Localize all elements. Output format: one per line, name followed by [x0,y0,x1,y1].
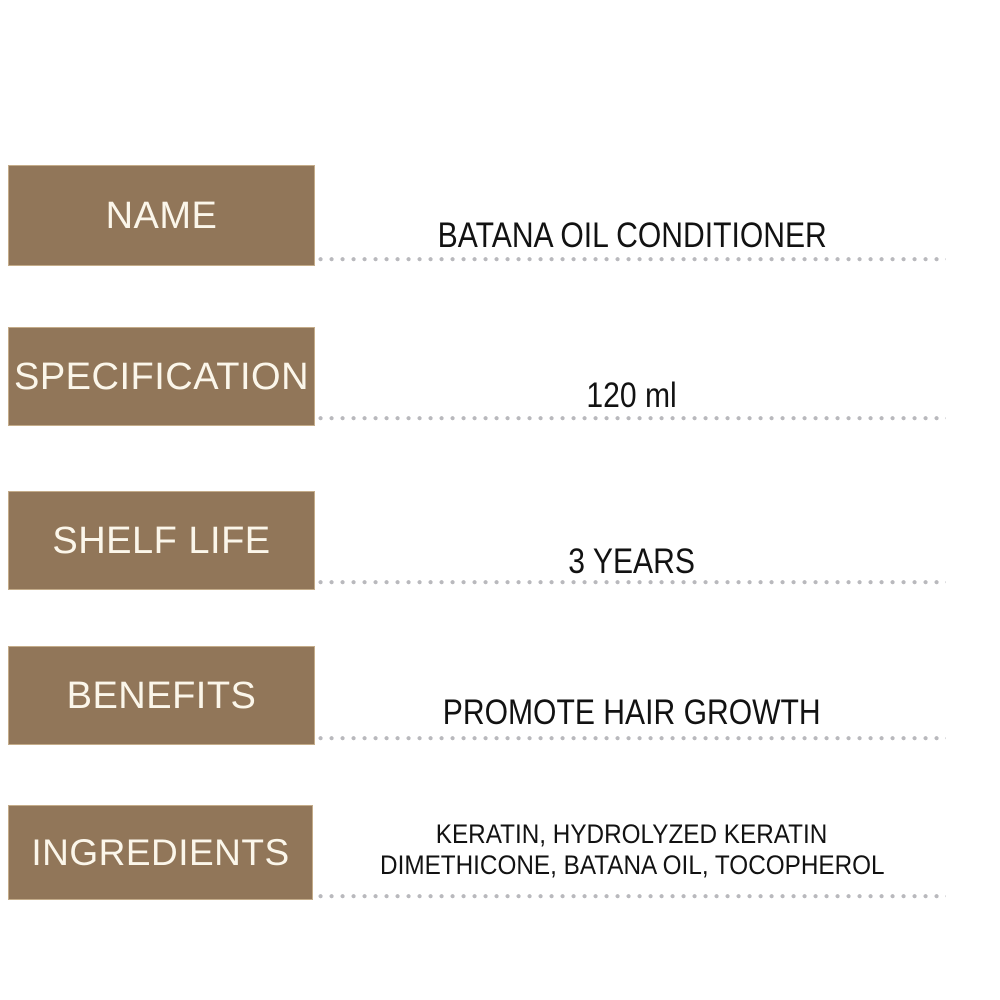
label-text-name: NAME [106,197,218,235]
label-chip-shelf-life: SHELF LIFE [8,491,315,590]
label-text-benefits: BENEFITS [67,677,257,715]
value-text-name-line-1: BATANA OIL CONDITIONER [437,216,826,256]
value-text-shelf-life-line-1: 3 YEARS [569,542,696,582]
value-text-ingredients-line-1: KERATIN, HYDROLYZED KERATIN [436,819,828,850]
value-block-ingredients: KERATIN, HYDROLYZED KERATIN DIMETHICONE,… [318,808,946,892]
label-text-shelf-life: SHELF LIFE [52,522,270,560]
label-text-specification: SPECIFICATION [14,358,309,396]
value-text-benefits-line-1: PROMOTE HAIR GROWTH [443,693,821,733]
value-block-benefits: PROMOTE HAIR GROWTH [318,663,946,733]
value-text-ingredients-line-2: DIMETHICONE, BATANA OIL, TOCOPHEROL [380,850,885,881]
label-chip-specification: SPECIFICATION [8,327,315,426]
dotted-rule-specification [318,415,946,422]
label-chip-name: NAME [8,165,315,266]
label-text-ingredients: INGREDIENTS [31,834,289,871]
value-block-shelf-life: 3 YEARS [318,512,946,582]
product-spec-sheet: NAME BATANA OIL CONDITIONER SPECIFICATIO… [0,0,1000,1000]
dotted-rule-benefits [318,735,946,742]
label-chip-ingredients: INGREDIENTS [8,805,313,900]
value-block-name: BATANA OIL CONDITIONER [318,186,946,256]
dotted-rule-shelf-life [318,579,946,586]
value-text-specification-line-1: 120 ml [587,376,677,416]
label-chip-benefits: BENEFITS [8,646,315,745]
value-block-specification: 120 ml [318,346,946,416]
dotted-rule-name [318,256,946,263]
dotted-rule-ingredients [318,893,946,900]
